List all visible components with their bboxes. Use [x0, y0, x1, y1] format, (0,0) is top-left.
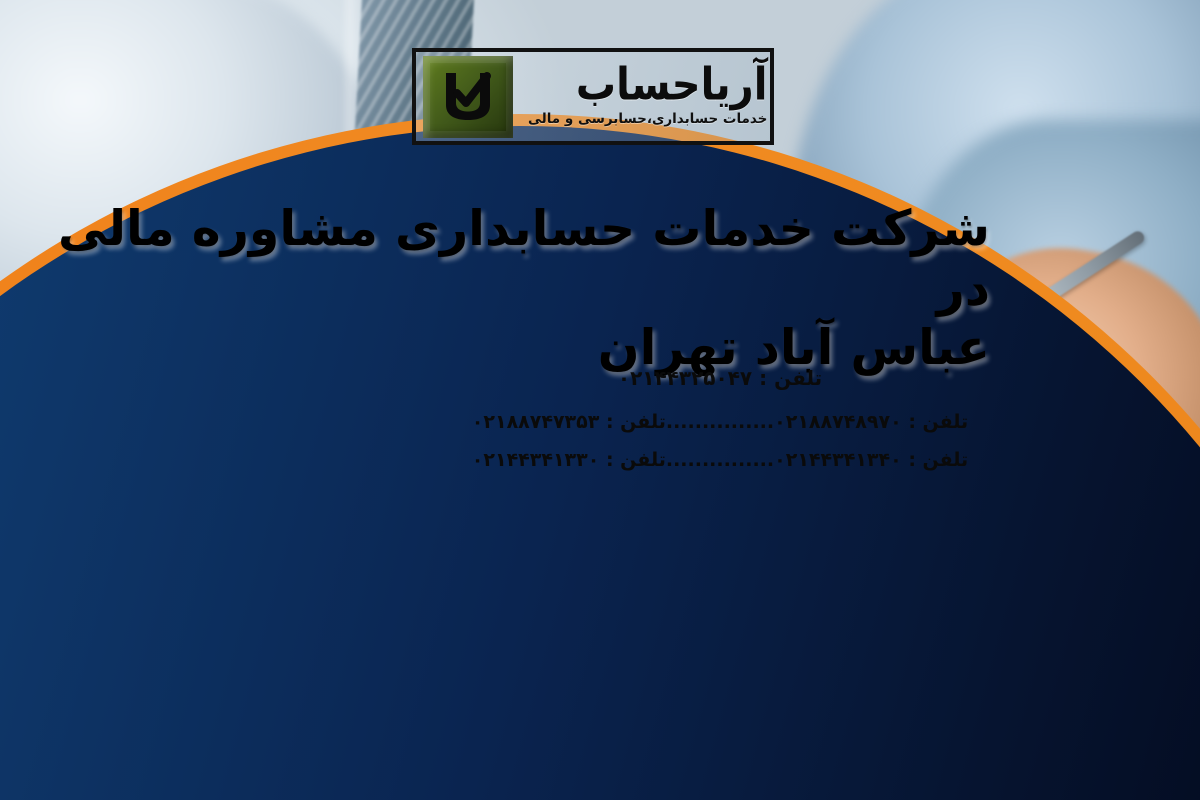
- logo-tagline: خدمات حسابداری،حسابرسی و مالی: [528, 112, 767, 127]
- phone-row-3[interactable]: تلفن : ۰۲۱۴۴۳۴۱۳۴۰...............تلفن : …: [440, 451, 1000, 470]
- logo-wordmark: آریاحساب خدمات حسابداری،حسابرسی و مالی: [520, 63, 771, 131]
- phone-row-2[interactable]: تلفن : ۰۲۱۸۸۷۴۸۹۷۰...............تلفن : …: [440, 413, 1000, 432]
- logo-company-name: آریاحساب: [576, 62, 768, 107]
- contact-phone-block: تلفن : ۰۲۱۴۴۳۲۵۰۴۷ تلفن : ۰۲۱۸۸۷۴۸۹۷۰...…: [440, 368, 1000, 470]
- page-title: شرکت خدمات حسابداری مشاوره مالی در عباس …: [40, 199, 990, 378]
- phone-row-1[interactable]: تلفن : ۰۲۱۴۴۳۲۵۰۴۷: [440, 368, 1000, 388]
- poster-canvas: آریاحساب خدمات حسابداری،حسابرسی و مالی ش…: [0, 0, 1200, 800]
- checkmark-in-bracket-icon: [423, 56, 513, 138]
- page-title-line-1: شرکت خدمات حسابداری مشاوره مالی در: [40, 199, 990, 319]
- company-logo-badge[interactable]: آریاحساب خدمات حسابداری،حسابرسی و مالی: [412, 48, 774, 145]
